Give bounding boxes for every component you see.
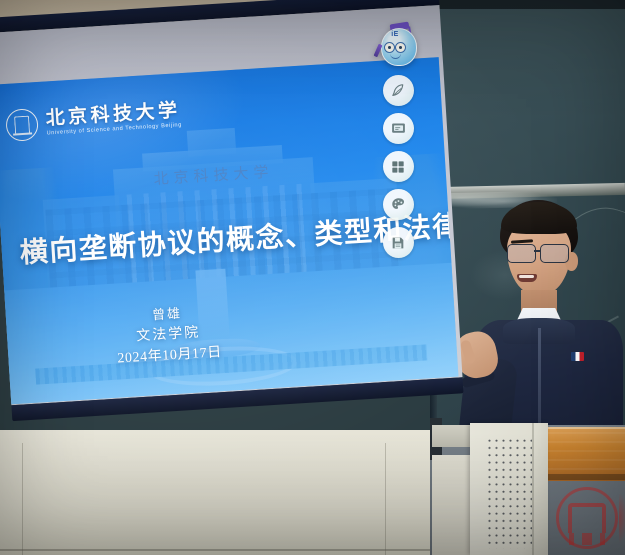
seal-partial-edge: [619, 494, 625, 542]
podium-shadow: [540, 474, 625, 480]
hair-front: [501, 202, 577, 234]
floating-tool-rail[interactable]: iE: [374, 24, 422, 270]
panel-rail: [432, 425, 474, 447]
presenter-speaker: [455, 200, 625, 460]
whiteboard-icon: [390, 120, 407, 137]
save-tool[interactable]: [383, 227, 414, 258]
podium-wood-grain: [540, 432, 625, 476]
palette-tool[interactable]: [383, 189, 414, 220]
eyeglasses-icon: [507, 244, 573, 262]
panel-side-block: [432, 455, 472, 555]
wall-seam: [385, 443, 386, 555]
acoustic-panel-perforations: [486, 437, 532, 549]
mascot-eyes: [384, 42, 406, 52]
ink-pen-tool[interactable]: [383, 75, 414, 106]
start-menu-tool[interactable]: [383, 151, 414, 182]
feather-icon: [390, 82, 407, 99]
palette-icon: [390, 196, 407, 213]
save-floppy-icon: [390, 235, 406, 251]
presentation-tool[interactable]: [383, 113, 414, 144]
jacket-logo-badge: [571, 352, 584, 361]
acoustic-panel-seam: [532, 423, 534, 555]
mascot-badge-text: iE: [378, 31, 412, 38]
wall-baseboard: [0, 549, 452, 551]
blackboard-top-frame: [430, 0, 625, 9]
windows-grid-icon: [390, 159, 406, 175]
red-circular-seal: [556, 487, 618, 549]
wall-seam: [22, 443, 23, 555]
mouth: [517, 274, 537, 282]
ustb-emblem-icon: [5, 108, 39, 142]
ie-mascot-avatar[interactable]: iE: [378, 24, 418, 66]
classroom-photo-scene: 北京科技大学 北京科技大学 University of Science and …: [0, 0, 625, 555]
